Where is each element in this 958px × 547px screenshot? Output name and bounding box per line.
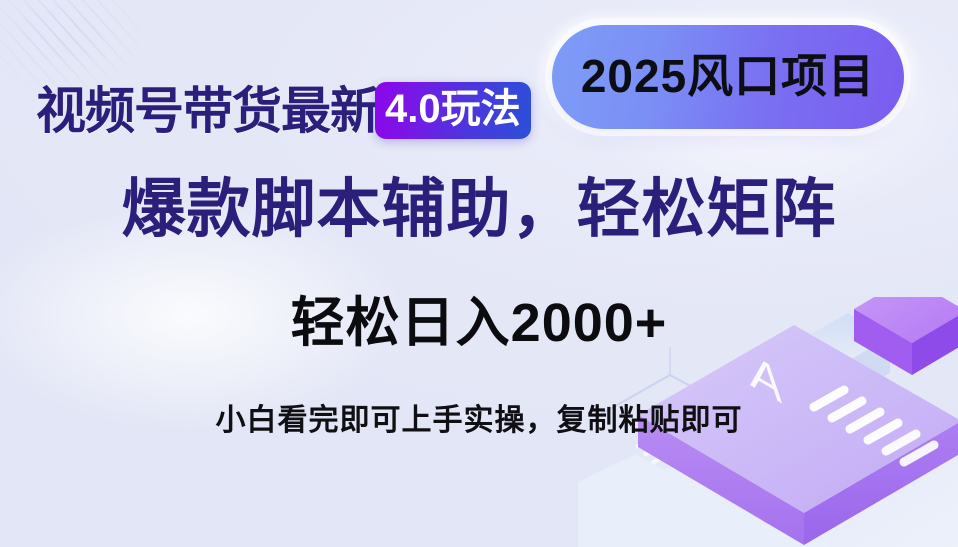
poster-header: 2025风口项目 视频号带货最新 4.0玩法 — [0, 0, 958, 160]
title-prefix-text: 视频号带货最新 — [36, 86, 379, 136]
background-isometric-shapes — [538, 247, 958, 547]
year-topic-pill-badge: 2025风口项目 — [552, 25, 904, 129]
version-badge: 4.0玩法 — [375, 82, 531, 139]
year-topic-pill-label: 2025风口项目 — [581, 53, 875, 99]
title-line-one: 视频号带货最新 4.0玩法 — [36, 82, 531, 139]
poster-canvas: 2025风口项目 视频号带货最新 4.0玩法 爆款脚本辅助，轻松矩阵 轻松日入2… — [0, 0, 958, 547]
income-subheadline: 轻松日入2000+ — [0, 295, 958, 352]
main-headline: 爆款脚本辅助，轻松矩阵 — [0, 176, 958, 243]
svg-text:A: A — [750, 344, 782, 414]
footer-description: 小白看完即可上手实操，复制粘贴即可 — [0, 404, 958, 437]
